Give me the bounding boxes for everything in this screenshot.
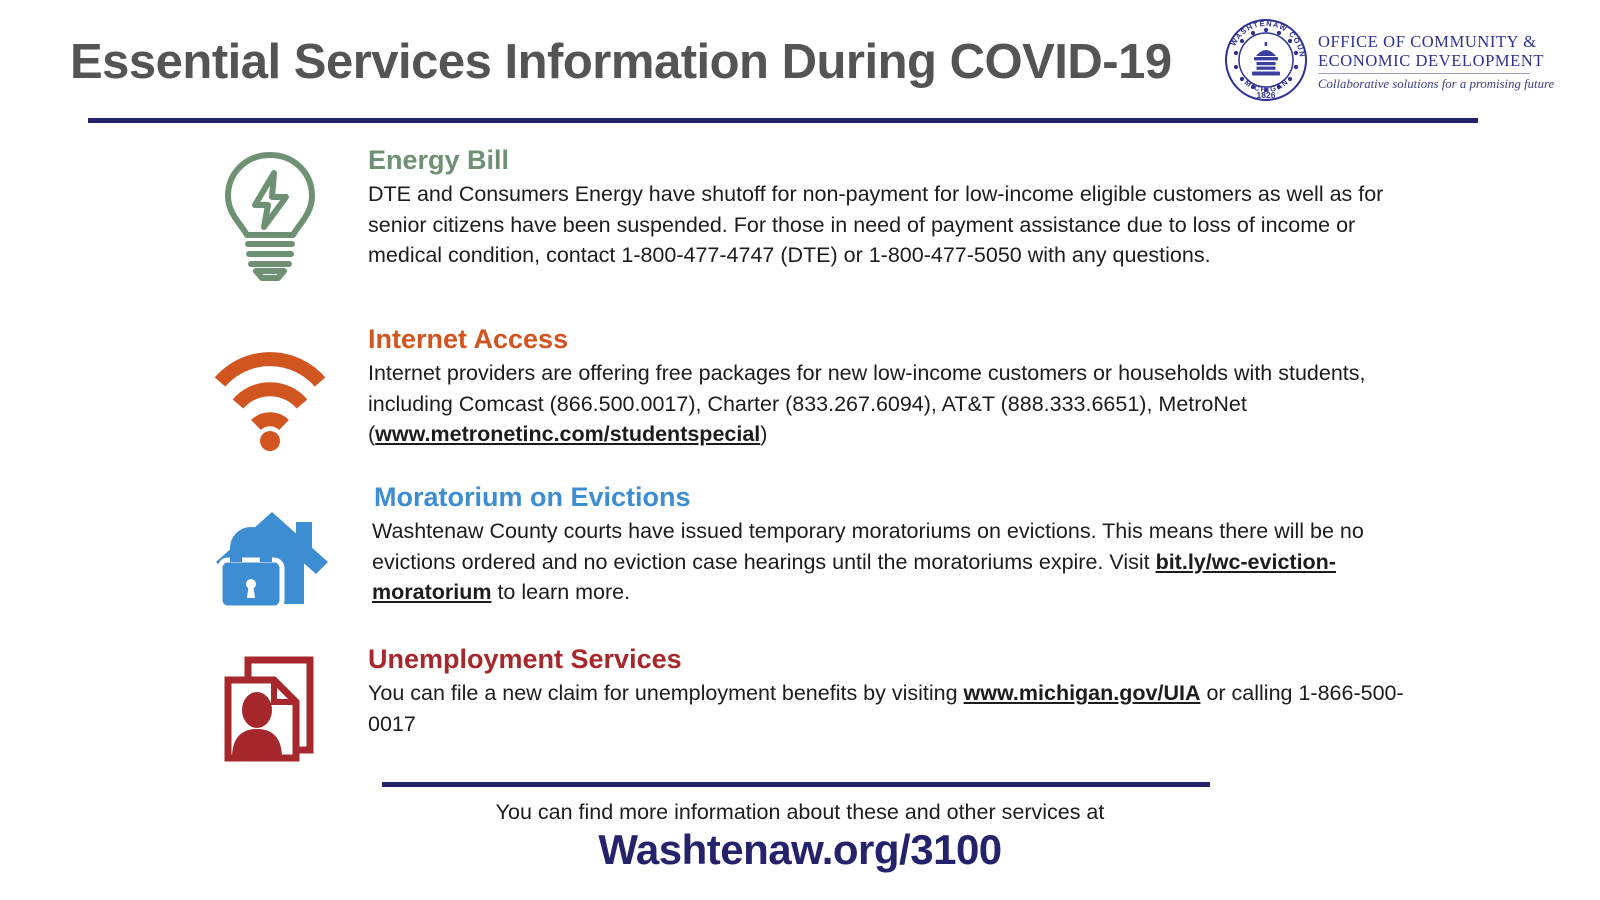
page-title: Essential Services Information During CO…	[70, 34, 1172, 90]
section-body: Internet Access Internet providers are o…	[368, 324, 1430, 450]
house-lock-icon	[210, 500, 334, 617]
text-run: to learn more.	[491, 580, 630, 604]
section-heading: Internet Access	[368, 324, 1430, 354]
section-heading: Moratorium on Evictions	[368, 482, 1420, 512]
section-text: Internet providers are offering free pac…	[368, 358, 1430, 450]
section-text: Washtenaw County courts have issued temp…	[368, 516, 1420, 608]
section-text: DTE and Consumers Energy have shutoff fo…	[368, 179, 1430, 271]
logo-org-line-2: ECONOMIC DEVELOPMENT	[1318, 51, 1534, 70]
michigan-uia-link[interactable]: www.michigan.gov/UIA	[964, 681, 1201, 705]
section-body: Moratorium on Evictions Washtenaw County…	[368, 482, 1420, 608]
lightbulb-icon	[210, 143, 330, 288]
wifi-icon	[210, 342, 330, 457]
footer-url[interactable]: Washtenaw.org/3100	[0, 826, 1600, 874]
footer-divider	[382, 782, 1210, 787]
logo-org-line-1: OFFICE OF COMMUNITY &	[1318, 32, 1534, 51]
logo-text-block: OFFICE OF COMMUNITY & ECONOMIC DEVELOPME…	[1318, 32, 1534, 92]
logo-divider	[1318, 73, 1530, 74]
washtenaw-county-oced-logo: WASHTENAW COUNTY MICHIGAN 1826 OFFICE OF…	[1222, 14, 1532, 106]
section-body: Energy Bill DTE and Consumers Energy hav…	[368, 145, 1430, 271]
seal-year-text: 1826	[1257, 90, 1276, 100]
county-seal-icon: WASHTENAW COUNTY MICHIGAN 1826	[1222, 16, 1310, 104]
section-heading: Unemployment Services	[368, 644, 1430, 674]
text-run: DTE and Consumers Energy have shutoff fo…	[368, 182, 1383, 267]
documents-person-icon	[210, 652, 330, 769]
footer-note: You can find more information about thes…	[0, 800, 1600, 825]
section-body: Unemployment Services You can file a new…	[368, 644, 1430, 739]
metronet-link[interactable]: www.metronetinc.com/studentspecial	[375, 422, 760, 446]
header-divider	[88, 118, 1478, 123]
logo-tagline: Collaborative solutions for a promising …	[1318, 77, 1534, 92]
section-text: You can file a new claim for unemploymen…	[368, 678, 1430, 739]
text-run: You can file a new claim for unemploymen…	[368, 681, 964, 705]
page-header: Essential Services Information During CO…	[0, 0, 1600, 118]
section-heading: Energy Bill	[368, 145, 1430, 175]
text-run: )	[760, 422, 767, 446]
